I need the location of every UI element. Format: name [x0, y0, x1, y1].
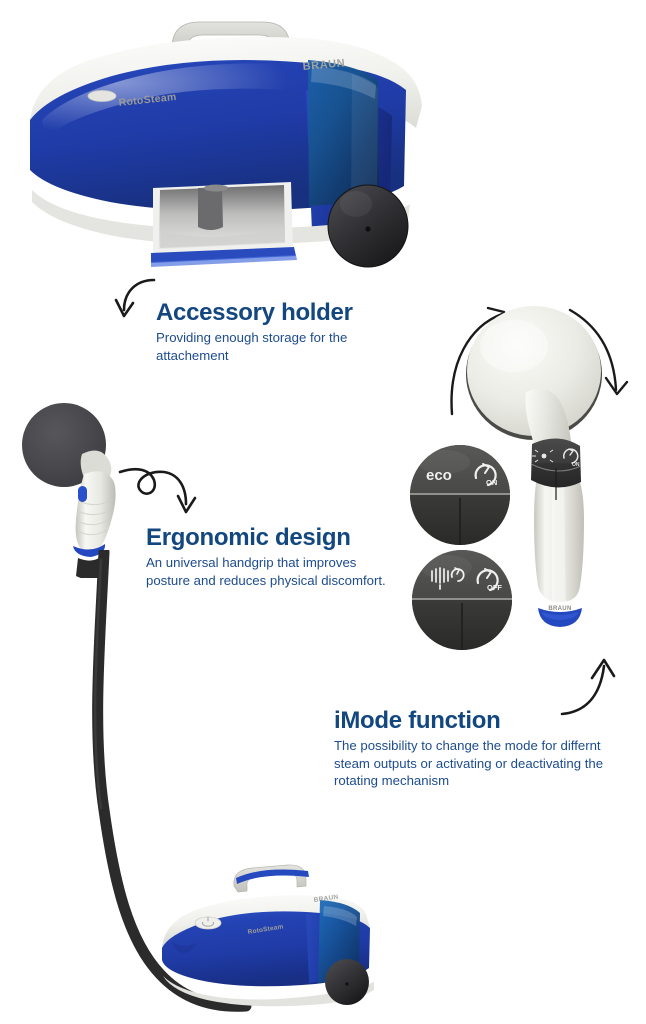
- callout-ergonomic-design: Ergonomic design An universal handgrip t…: [146, 525, 401, 589]
- wheel: [328, 185, 408, 267]
- handle-brand-ring: BRAUN: [538, 606, 582, 627]
- callout-body: The possibility to change the mode for d…: [334, 737, 624, 789]
- handle-panel-on-label: ON: [572, 462, 580, 468]
- wheel: [325, 959, 369, 1005]
- imode-off-label: OFF: [487, 583, 502, 592]
- accessory-holder-compartment: [151, 182, 297, 267]
- water-tank: [308, 60, 379, 206]
- callout-body: An universal handgrip that improves post…: [146, 554, 401, 589]
- callout-heading: Ergonomic design: [146, 525, 401, 550]
- callout-imode-function: iMode function The possibility to change…: [334, 708, 624, 789]
- imode-eco-label: eco: [426, 467, 452, 484]
- imode-button-steam-off[interactable]: OFF: [410, 547, 514, 653]
- callout-body: Providing enough storage for the attache…: [156, 329, 406, 364]
- infographic-canvas: RotoSteam BRAUN Accessory holder Providi…: [0, 0, 646, 1024]
- power-button[interactable]: [195, 917, 221, 929]
- main-steam-unit-illustration: RotoSteam BRAUN: [20, 8, 440, 283]
- bottom-steam-unit-illustration: RotoSteam BRAUN: [148, 852, 374, 1024]
- handle-brand-label: BRAUN: [548, 606, 571, 612]
- imode-on-label: ON: [486, 478, 497, 487]
- callout-heading: iMode function: [334, 708, 624, 733]
- arrow-ergonomic-icon: [116, 460, 204, 522]
- imode-button-eco-on[interactable]: eco ON: [408, 442, 512, 548]
- carry-handle-icon: [234, 865, 309, 892]
- callout-accessory-holder: Accessory holder Providing enough storag…: [156, 300, 406, 364]
- handgrip-trigger-button[interactable]: [78, 486, 87, 502]
- callout-heading: Accessory holder: [156, 300, 406, 325]
